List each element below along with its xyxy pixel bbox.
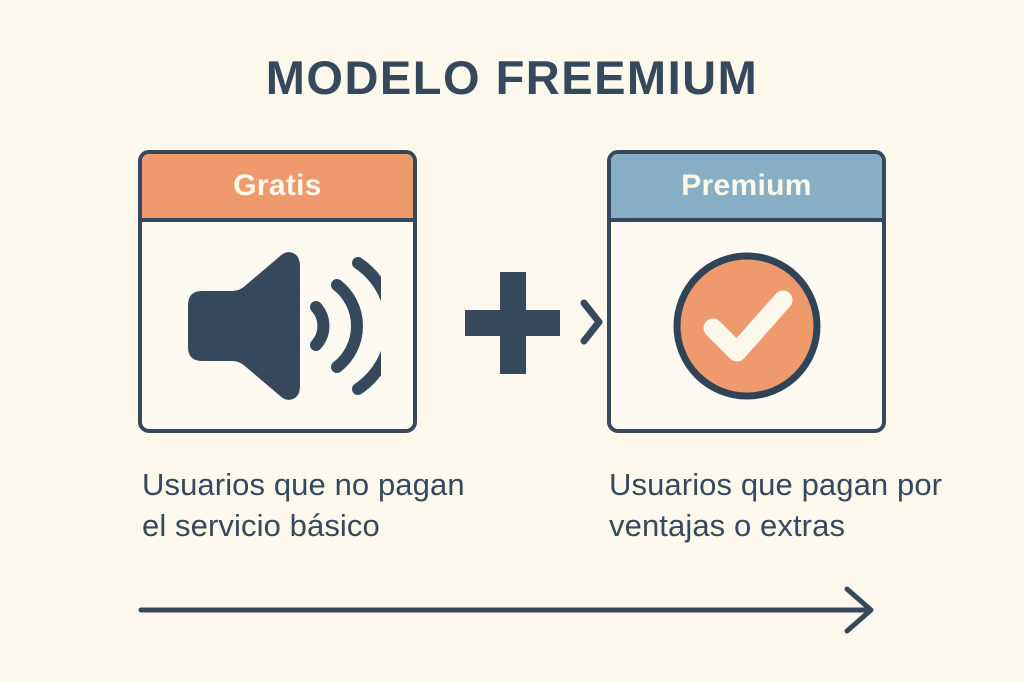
plus-icon xyxy=(465,272,560,374)
caption-premium: Usuarios que pagan por ventajas o extras xyxy=(609,464,969,546)
chevron-right-icon xyxy=(580,298,604,346)
card-free-body xyxy=(142,222,413,429)
page-title: MODELO FREEMIUM xyxy=(0,52,1024,104)
card-free-header-label: Gratis xyxy=(233,169,322,203)
card-free: Gratis xyxy=(138,150,417,433)
bottom-arrow-icon xyxy=(138,586,878,634)
speaker-waves-icon xyxy=(175,251,381,401)
infographic-canvas: MODELO FREEMIUM Gratis xyxy=(0,0,1024,682)
card-premium-header-label: Premium xyxy=(681,169,811,203)
card-free-header: Gratis xyxy=(142,154,413,222)
check-circle-icon xyxy=(671,250,823,402)
plus-icon-vertical-bar xyxy=(500,272,526,374)
card-premium-body xyxy=(611,222,882,429)
card-premium-header: Premium xyxy=(611,154,882,222)
caption-free: Usuarios que no pagan el servicio básico xyxy=(142,464,472,546)
card-premium: Premium xyxy=(607,150,886,433)
